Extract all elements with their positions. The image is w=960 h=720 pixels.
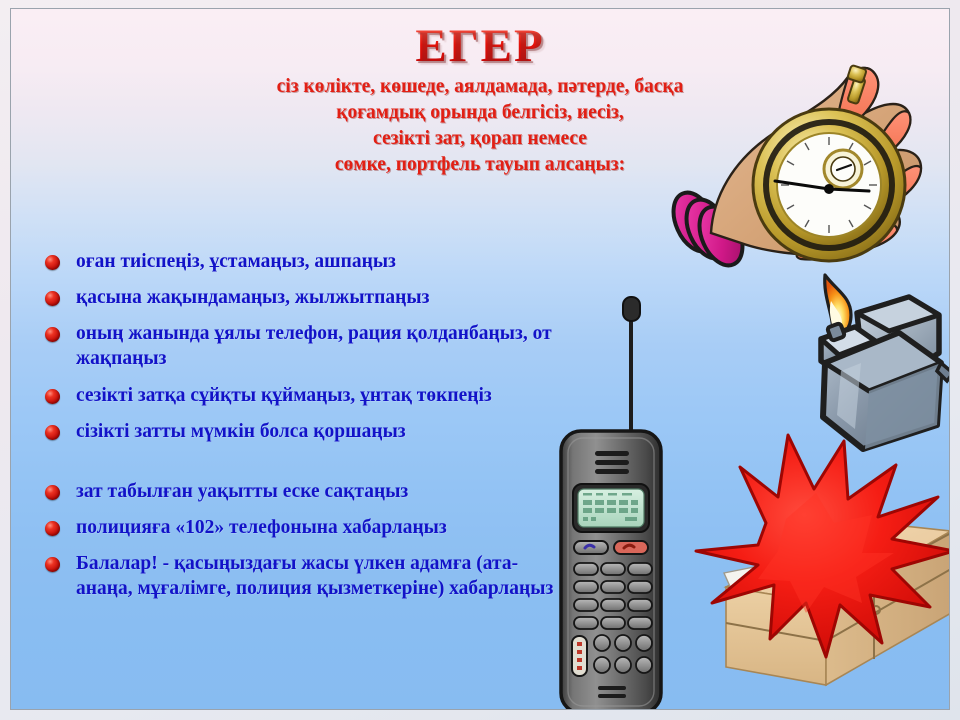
pocket-watch-icon <box>753 109 905 261</box>
list-item-label: қасына жақындамаңыз, жылжытпаңыз <box>76 285 429 310</box>
bullet-dot-icon <box>45 485 60 500</box>
list-item-label: полицияға «102» телефонына хабарлаңыз <box>76 515 447 540</box>
instruction-list: оған тиіспеңіз, ұстамаңыз, ашпаңыз қасын… <box>45 249 555 612</box>
bullet-dot-icon <box>45 389 60 404</box>
list-item-label: зат табылған уақытты еске сақтаңыз <box>76 479 408 504</box>
hand-holding-pocket-watch-icon <box>651 37 950 302</box>
list-item: полицияға «102» телефонына хабарлаңыз <box>45 515 555 540</box>
bullet-dot-icon <box>45 557 60 572</box>
list-item-label: сізікті затты мүмкін болса қоршаңыз <box>76 419 406 444</box>
earpiece-icon <box>595 451 629 474</box>
list-item-label: оған тиіспеңіз, ұстамаңыз, ашпаңыз <box>76 249 396 274</box>
mobile-phone-icon <box>543 291 683 710</box>
poster-slide: ЕГЕР сіз көлікте, көшеде, аялдамада, пәт… <box>0 0 960 720</box>
antenna-icon <box>623 297 640 441</box>
bullet-dot-icon <box>45 255 60 270</box>
list-item-label: Балалар! - қасыңыздағы жасы үлкен адамға… <box>76 551 555 601</box>
list-item-label: оның жанында ұялы телефон, рация қолданб… <box>76 321 555 371</box>
bullet-dot-icon <box>45 327 60 342</box>
list-item: қасына жақындамаңыз, жылжытпаңыз <box>45 285 555 310</box>
list-item: сезікті затқа сұйқты құймаңыз, ұнтақ төк… <box>45 383 555 408</box>
bullet-dot-icon <box>45 521 60 536</box>
bullet-dot-icon <box>45 291 60 306</box>
list-item: оған тиіспеңіз, ұстамаңыз, ашпаңыз <box>45 249 555 274</box>
phone-screen-icon <box>573 484 649 532</box>
list-item: оның жанында ұялы телефон, рация қолданб… <box>45 321 555 371</box>
list-item: сізікті затты мүмкін болса қоршаңыз <box>45 419 555 444</box>
exploding-parcel-icon <box>666 427 950 710</box>
poster-canvas: ЕГЕР сіз көлікте, көшеде, аялдамада, пәт… <box>10 8 950 710</box>
list-item: Балалар! - қасыңыздағы жасы үлкен адамға… <box>45 551 555 601</box>
bullet-dot-icon <box>45 425 60 440</box>
list-item: зат табылған уақытты еске сақтаңыз <box>45 479 555 504</box>
lit-lighter-icon <box>789 267 950 452</box>
list-item-label: сезікті затқа сұйқты құймаңыз, ұнтақ төк… <box>76 383 492 408</box>
